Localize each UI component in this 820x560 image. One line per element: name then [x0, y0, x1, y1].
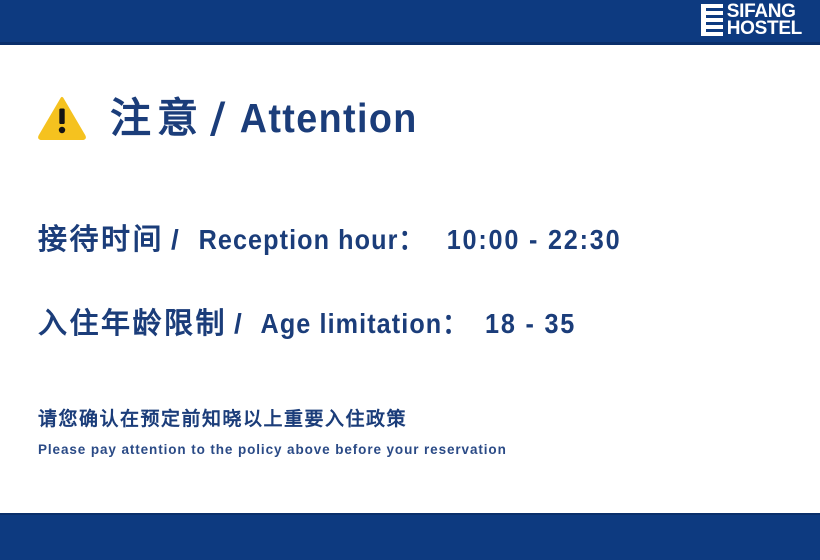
attention-notice-poster: SIFANG HOSTEL 注意/Attention 接待时间/Receptio…	[0, 0, 820, 560]
top-navy-bar: SIFANG HOSTEL	[0, 0, 820, 45]
warning-triangle-icon	[38, 96, 86, 140]
brand-logo: SIFANG HOSTEL	[701, 0, 802, 40]
brand-name-line2: HOSTEL	[727, 20, 802, 37]
policy-label-cjk: 入住年龄限制	[38, 306, 227, 340]
policy-label-cjk: 接待时间	[38, 222, 164, 256]
policy-age-limitation: 入住年龄限制/Age limitation：18 - 35	[38, 300, 581, 342]
footnote-cn: 请您确认在预定前知晓以上重要入住政策	[38, 406, 507, 434]
bottom-navy-bar	[0, 513, 820, 560]
footnote-en: Please pay attention to the policy above…	[38, 442, 507, 457]
policy-separator: /	[164, 224, 186, 255]
page-title-latin: Attention	[240, 98, 418, 139]
policy-separator: /	[227, 308, 249, 339]
policy-value-age-limitation: 18 - 35	[485, 308, 576, 340]
sifang-monogram-icon	[701, 3, 723, 37]
attention-heading: 注意/Attention	[38, 96, 426, 140]
notice-content: 注意/Attention 接待时间/Reception hour：10:00 -…	[0, 48, 820, 513]
policy-value-reception-hour: 10:00 - 22:30	[447, 224, 622, 256]
page-title-separator: /	[204, 93, 232, 142]
page-title-cjk: 注意	[110, 94, 204, 142]
footnote: 请您确认在预定前知晓以上重要入住政策 Please pay attention …	[38, 406, 507, 457]
policy-reception-hour: 接待时间/Reception hour：10:00 - 22:30	[38, 216, 631, 258]
brand-wordmark: SIFANG HOSTEL	[727, 3, 802, 38]
policy-label-latin: Reception hour：	[198, 218, 424, 258]
policy-label-latin: Age limitation：	[260, 302, 468, 342]
page-title: 注意/Attention	[110, 97, 426, 139]
